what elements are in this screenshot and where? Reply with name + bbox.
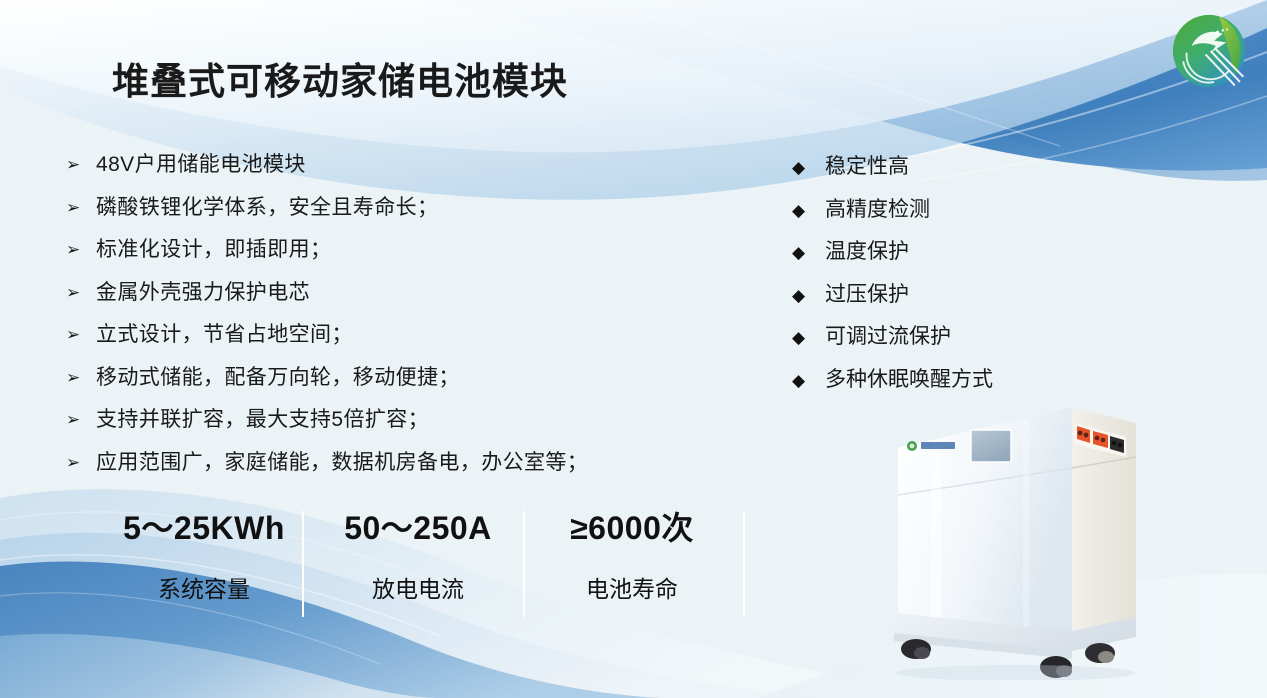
slide-root: 堆叠式可移动家储电池模块 ➢ 48V户用储能电池模块 ➢ 磷酸铁锂化学体系，安全…: [0, 0, 1267, 698]
list-item: ◆ 稳定性高: [792, 150, 1052, 193]
stat-capacity: 5〜25KWh 系统容量: [104, 508, 304, 604]
list-item-label: 过压保护: [825, 278, 909, 308]
stat-discharge-current: 50〜250A 放电电流: [318, 508, 518, 604]
list-item: ➢ 磷酸铁锂化学体系，安全且寿命长；: [66, 191, 726, 234]
list-item-label: 立式设计，节省占地空间；: [96, 318, 353, 348]
stat-value: ≥6000次: [532, 508, 732, 548]
list-item: ◆ 过压保护: [792, 278, 1052, 321]
list-item-label: 高精度检测: [825, 193, 930, 223]
list-item: ➢ 支持并联扩容，最大支持5倍扩容；: [66, 403, 726, 446]
arrow-bullet-icon: ➢: [66, 410, 96, 430]
list-item: ◆ 可调过流保护: [792, 320, 1052, 363]
list-item-label: 磷酸铁锂化学体系，安全且寿命长；: [96, 191, 438, 221]
diamond-bullet-icon: ◆: [792, 243, 825, 263]
list-item-label: 稳定性高: [825, 150, 909, 180]
list-item: ◆ 高精度检测: [792, 193, 1052, 236]
list-item-label: 温度保护: [825, 235, 909, 265]
list-item-label: 应用范围广，家庭储能，数据机房备电，办公室等；: [96, 446, 588, 476]
stat-value: 5〜25KWh: [104, 508, 304, 548]
arrow-bullet-icon: ➢: [66, 453, 96, 473]
diamond-bullet-icon: ◆: [792, 201, 825, 221]
feature-list-right: ◆ 稳定性高 ◆ 高精度检测 ◆ 温度保护 ◆ 过压保护 ◆ 可调过流保护 ◆ …: [792, 150, 1052, 405]
list-item: ➢ 金属外壳强力保护电芯: [66, 276, 726, 319]
stat-label: 放电电流: [318, 574, 518, 604]
arrow-bullet-icon: ➢: [66, 198, 96, 218]
stat-divider: [743, 511, 745, 617]
list-item-label: 48V户用储能电池模块: [96, 148, 306, 178]
stat-label: 系统容量: [104, 574, 304, 604]
list-item: ➢ 立式设计，节省占地空间；: [66, 318, 726, 361]
list-item-label: 标准化设计，即插即用；: [96, 233, 331, 263]
diamond-bullet-icon: ◆: [792, 158, 825, 178]
list-item: ➢ 标准化设计，即插即用；: [66, 233, 726, 276]
stat-label: 电池寿命: [532, 574, 732, 604]
stat-value: 50〜250A: [318, 508, 518, 548]
diamond-bullet-icon: ◆: [792, 328, 825, 348]
arrow-bullet-icon: ➢: [66, 240, 96, 260]
diamond-bullet-icon: ◆: [792, 371, 825, 391]
page-title: 堆叠式可移动家储电池模块: [112, 51, 568, 105]
list-item-label: 金属外壳强力保护电芯: [96, 276, 310, 306]
arrow-bullet-icon: ➢: [66, 368, 96, 388]
list-item: ◆ 温度保护: [792, 235, 1052, 278]
arrow-bullet-icon: ➢: [66, 155, 96, 175]
company-logo-icon: [1166, 8, 1252, 94]
stat-cycle-life: ≥6000次 电池寿命: [532, 508, 732, 604]
arrow-bullet-icon: ➢: [66, 283, 96, 303]
list-item: ➢ 应用范围广，家庭储能，数据机房备电，办公室等；: [66, 446, 726, 489]
list-item-label: 可调过流保护: [825, 320, 951, 350]
product-display-screen: [971, 430, 1011, 462]
spec-stats-strip: 5〜25KWh 系统容量 50〜250A 放电电流 ≥6000次 电池寿命: [96, 508, 756, 620]
feature-list-left: ➢ 48V户用储能电池模块 ➢ 磷酸铁锂化学体系，安全且寿命长； ➢ 标准化设计…: [66, 148, 726, 488]
list-item: ➢ 48V户用储能电池模块: [66, 148, 726, 191]
diamond-bullet-icon: ◆: [792, 286, 825, 306]
arrow-bullet-icon: ➢: [66, 325, 96, 345]
list-item: ➢ 移动式储能，配备万向轮，移动便捷；: [66, 361, 726, 404]
list-item-label: 支持并联扩容，最大支持5倍扩容；: [96, 403, 429, 433]
stat-divider: [523, 511, 525, 617]
list-item-label: 移动式储能，配备万向轮，移动便捷；: [96, 361, 460, 391]
product-image-battery-cabinet: [876, 385, 1267, 680]
